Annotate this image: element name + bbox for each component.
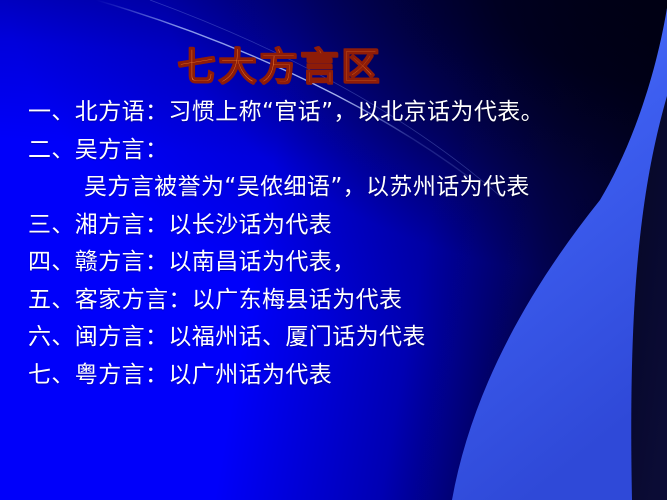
slide-content: 七大方言区 一、北方语：习惯上称“官话”，以北京话为代表。 二、吴方言： 吴方言… bbox=[0, 0, 667, 500]
list-item: 一、北方语：习惯上称“官话”，以北京话为代表。 bbox=[28, 94, 657, 132]
list-item: 吴方言被誉为“吴侬细语”，以苏州话为代表 bbox=[28, 169, 657, 207]
page-title: 七大方言区 bbox=[0, 36, 560, 91]
list-item: 五、客家方言：以广东梅县话为代表 bbox=[28, 282, 657, 320]
list-item: 七、粤方言：以广州话为代表 bbox=[28, 357, 657, 395]
presentation-slide: 七大方言区 一、北方语：习惯上称“官话”，以北京话为代表。 二、吴方言： 吴方言… bbox=[0, 0, 667, 500]
list-item: 四、赣方言：以南昌话为代表， bbox=[28, 244, 657, 282]
list-item: 三、湘方言：以长沙话为代表 bbox=[28, 207, 657, 245]
list-item: 六、闽方言：以福州话、厦门话为代表 bbox=[28, 319, 657, 357]
list-item: 二、吴方言： bbox=[28, 132, 657, 170]
dialect-list: 一、北方语：习惯上称“官话”，以北京话为代表。 二、吴方言： 吴方言被誉为“吴侬… bbox=[28, 94, 657, 394]
